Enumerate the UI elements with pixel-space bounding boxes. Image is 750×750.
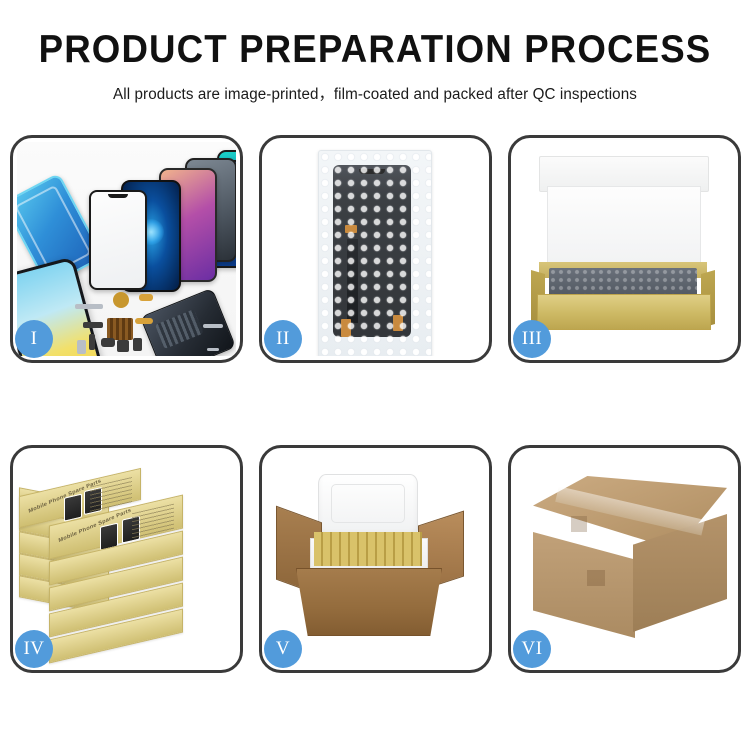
part-camera-module [117,340,129,352]
part-flex-cable-1 [139,294,153,301]
step-panel-2-inner: II [262,138,489,360]
step-badge-3: III [513,320,551,358]
part-screws [207,348,219,351]
phone-glass-screen [89,190,147,290]
yellow-boxes-inside [314,532,422,566]
bubble-wrap-bag [318,150,432,356]
photo-bubble-wrapped-screen [266,142,485,356]
box-stack: Mobile Phone Spare Parts Mobile Phone Sp… [17,452,236,666]
lcd-flex-cable [347,239,358,323]
step-panel-4-inner: Mobile Phone Spare Parts Mobile Phone Sp… [13,448,240,670]
header: PRODUCT PREPARATION PROCESS All products… [0,0,750,104]
foam-sheet [547,186,701,270]
photo-stacked-spare-part-boxes: Mobile Phone Spare Parts Mobile Phone Sp… [17,452,236,666]
step-panel-6: VI [508,445,741,673]
part-taptic-engine [101,338,115,347]
part-sim-tray [77,340,86,354]
tape-patch-lower [587,570,605,586]
connector-bottom-left [341,319,351,337]
step-panel-3-inner: III [511,138,738,360]
steps-grid: I II [10,135,740,673]
photo-open-flat-box [515,142,734,356]
connector-bottom-right [393,315,403,331]
connector-top [345,225,357,233]
part-ic-grid [107,318,133,340]
carton-front-face [533,532,635,638]
phone-opened-back [140,288,236,356]
step-panel-4: Mobile Phone Spare Parts Mobile Phone Sp… [10,445,243,673]
step-badge-4: IV [15,630,53,668]
product-preparation-infographic: PRODUCT PREPARATION PROCESS All products… [0,0,750,750]
photo-sealed-carton [515,452,734,666]
step-panel-5: V [259,445,492,673]
step-badge-2: II [264,320,302,358]
box-front-panel [537,294,711,330]
step-badge-6: VI [513,630,551,668]
photo-phones-and-parts [17,142,236,356]
tape-patch-upper [571,516,587,532]
step-panel-2: II [259,135,492,363]
step-badge-5: V [264,630,302,668]
part-battery-cell [133,338,142,351]
part-bracket-1 [83,322,103,328]
part-bracket-2 [89,334,95,350]
carton-body [296,568,442,636]
part-screwdriver [203,324,223,328]
part-antenna-strip [75,304,103,309]
styrofoam-lid [318,474,418,538]
lcd-screen-assembly [333,165,411,337]
part-speaker-coil [113,292,129,308]
photo-carton-with-boxes [266,452,485,666]
step-panel-1-inner: I [13,138,240,360]
step-panel-1: I [10,135,243,363]
page-title: PRODUCT PREPARATION PROCESS [23,30,728,69]
part-flex-cable-2 [135,318,153,324]
page-subtitle: All products are image-printed，film-coat… [8,82,743,104]
step-badge-1: I [15,320,53,358]
step-panel-6-inner: VI [511,448,738,670]
step-panel-5-inner: V [262,448,489,670]
step-panel-3: III [508,135,741,363]
